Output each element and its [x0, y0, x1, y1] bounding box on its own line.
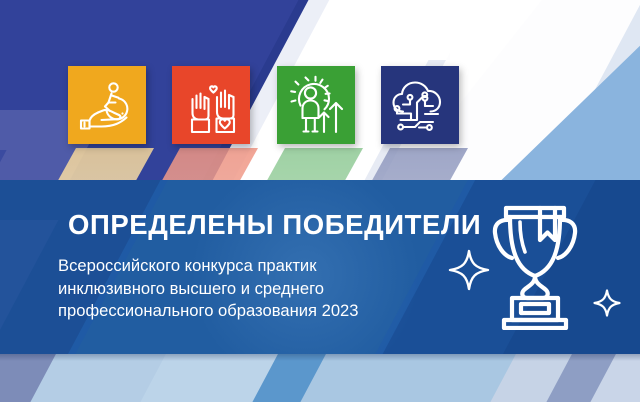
- subtitle: Всероссийского конкурса практик инклюзив…: [58, 255, 359, 323]
- sparkle-icon: [592, 288, 622, 318]
- bottom-strip: [0, 354, 640, 402]
- trophy-icon: [482, 198, 588, 330]
- page-title: ОПРЕДЕЛЕНЫ ПОБЕДИТЕЛИ: [68, 211, 481, 239]
- icon-tile-hands-hearts: [172, 66, 250, 144]
- trophy: [482, 198, 588, 335]
- icon-tile-gear-person-arrows: [277, 66, 355, 144]
- hand-wheelchair-icon: [68, 66, 146, 144]
- sparkle-small: [592, 288, 622, 323]
- subtitle-line-1: Всероссийского конкурса практик: [58, 255, 359, 278]
- icon-tile-hand-wheelchair: [68, 66, 146, 144]
- bottom-strip-shadow: [0, 354, 640, 361]
- gear-person-arrows-icon: [277, 66, 355, 144]
- subtitle-line-3: профессионального образования 2023: [58, 300, 359, 323]
- cloud-circuit-icon: [381, 66, 459, 144]
- hands-hearts-icon: [172, 66, 250, 144]
- subtitle-line-2: инклюзивного высшего и среднего: [58, 278, 359, 301]
- icon-tile-cloud-circuit: [381, 66, 459, 144]
- poster: ОПРЕДЕЛЕНЫ ПОБЕДИТЕЛИ Всероссийского кон…: [0, 0, 640, 402]
